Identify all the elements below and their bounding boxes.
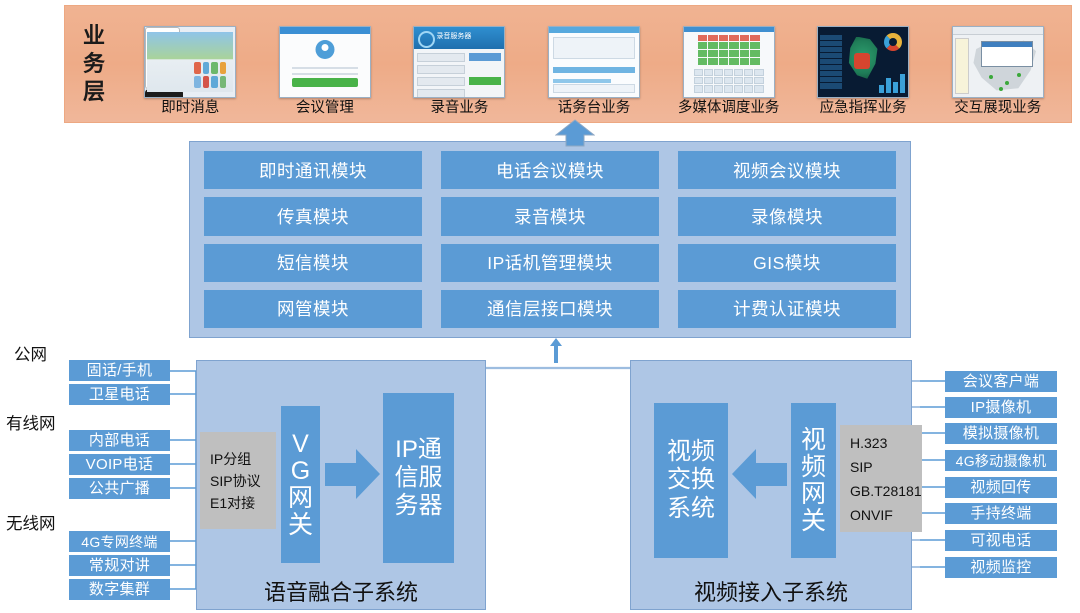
business-item-label: 会议管理 [296, 101, 354, 123]
right-terminal-analog-camera[interactable]: 模拟摄像机 [945, 423, 1057, 444]
video-switch-system-box[interactable]: 视频 交换 系统 [654, 403, 728, 558]
video-protocol-sip: SIP [850, 460, 922, 474]
multimedia-dispatch-thumbnail-icon [683, 26, 775, 98]
module-layer-panel: 即时通讯模块 传真模块 短信模块 网管模块 电话会议模块 录音模块 IP话机管理… [189, 141, 911, 338]
module-box-sms[interactable]: 短信模块 [204, 244, 422, 282]
module-column-3: 视频会议模块 录像模块 GIS模块 计费认证模块 [678, 151, 896, 328]
vg-gateway-char-1: V [292, 431, 309, 458]
right-terminal-video-phone[interactable]: 可视电话 [945, 530, 1057, 551]
module-box-netmgmt[interactable]: 网管模块 [204, 290, 422, 328]
video-switch-line-1: 视频 [667, 438, 715, 466]
business-item-label: 应急指挥业务 [820, 101, 907, 123]
video-access-subsystem-title: 视频接入子系统 [631, 575, 911, 607]
vg-gateway-char-3: 网 [288, 485, 313, 512]
right-terminal-handheld[interactable]: 手持终端 [945, 503, 1057, 524]
business-layer-title: 业 务 层 [65, 6, 123, 122]
video-gateway-char-2: 频 [801, 454, 826, 481]
video-gateway-char-4: 关 [801, 508, 826, 535]
business-layer: 业 务 层 即时消息 会议管理 [64, 5, 1072, 123]
right-terminal-video-surveillance[interactable]: 视频监控 [945, 557, 1057, 578]
ip-server-line-1: IP通 [395, 436, 442, 464]
video-protocol-gbt: GB.T28181 [850, 484, 922, 498]
module-box-recording[interactable]: 录音模块 [441, 197, 659, 235]
left-terminal-digital-trunking[interactable]: 数字集群 [69, 579, 170, 600]
video-gateway-char-1: 视 [801, 427, 826, 454]
left-terminal-public-broadcast[interactable]: 公共广播 [69, 478, 170, 499]
vg-gateway-box[interactable]: V G 网 关 [281, 406, 320, 563]
network-group-label-wireless: 无线网 [6, 510, 56, 534]
left-terminal-conventional-intercom[interactable]: 常规对讲 [69, 555, 170, 576]
interactive-presentation-thumbnail-icon [952, 26, 1044, 98]
right-terminal-conference-client[interactable]: 会议客户端 [945, 371, 1057, 392]
ip-server-line-3: 务器 [395, 492, 443, 520]
business-item-label: 即时消息 [161, 101, 219, 123]
network-group-label-wired: 有线网 [6, 410, 56, 434]
operator-console-thumbnail-icon [548, 26, 640, 98]
module-box-video-conference[interactable]: 视频会议模块 [678, 151, 896, 189]
arrow-up-to-business-layer-icon [555, 119, 595, 147]
business-item-instant-message[interactable]: 即时消息 [123, 6, 258, 122]
video-protocol-h323: H.323 [850, 436, 922, 450]
arrow-up-to-module-layer-icon [549, 338, 563, 363]
business-item-operator-console[interactable]: 话务台业务 [527, 6, 662, 122]
right-terminal-video-backhaul[interactable]: 视频回传 [945, 477, 1057, 498]
business-item-multimedia-dispatch[interactable]: 多媒体调度业务 [661, 6, 796, 122]
ip-communication-server-box[interactable]: IP通 信服 务器 [383, 393, 454, 563]
business-item-label: 交互展现业务 [954, 101, 1041, 123]
module-column-1: 即时通讯模块 传真模块 短信模块 网管模块 [204, 151, 422, 328]
arrow-right-vg-to-server-icon [325, 448, 381, 501]
video-switch-line-3: 系统 [667, 495, 715, 523]
module-box-video-recording[interactable]: 录像模块 [678, 197, 896, 235]
business-layer-title-char-3: 层 [83, 78, 105, 106]
right-terminal-ip-camera[interactable]: IP摄像机 [945, 397, 1057, 418]
instant-message-thumbnail-icon [144, 26, 236, 98]
video-gateway-char-3: 网 [801, 481, 826, 508]
business-item-conference-management[interactable]: 会议管理 [258, 6, 393, 122]
voice-protocol-e1: E1对接 [210, 496, 276, 510]
video-switch-line-2: 交换 [667, 466, 715, 494]
vg-gateway-char-2: G [291, 458, 310, 485]
voice-protocol-ip: IP分组 [210, 452, 276, 466]
module-box-comm-interface[interactable]: 通信层接口模块 [441, 290, 659, 328]
vg-gateway-char-4: 关 [288, 512, 313, 539]
left-terminal-voip[interactable]: VOIP电话 [69, 454, 170, 475]
module-box-ipphone-mgmt[interactable]: IP话机管理模块 [441, 244, 659, 282]
module-box-gis[interactable]: GIS模块 [678, 244, 896, 282]
business-item-interactive-presentation[interactable]: 交互展现业务 [930, 6, 1065, 122]
business-item-emergency-command[interactable]: 应急指挥业务 [796, 6, 931, 122]
module-column-2: 电话会议模块 录音模块 IP话机管理模块 通信层接口模块 [441, 151, 659, 328]
voice-protocol-sip: SIP协议 [210, 474, 276, 488]
left-terminal-satellite[interactable]: 卫星电话 [69, 384, 170, 405]
recording-service-thumbnail-icon [413, 26, 505, 98]
arrow-left-gateway-to-switch-icon [731, 448, 787, 501]
module-box-billing-auth[interactable]: 计费认证模块 [678, 290, 896, 328]
ip-server-line-2: 信服 [395, 464, 443, 492]
voice-protocol-box: IP分组 SIP协议 E1对接 [200, 432, 276, 529]
module-box-audio-conference[interactable]: 电话会议模块 [441, 151, 659, 189]
business-layer-title-char-2: 务 [83, 50, 105, 78]
left-terminal-internal-phone[interactable]: 内部电话 [69, 430, 170, 451]
business-item-label: 多媒体调度业务 [678, 101, 780, 123]
business-layer-items: 即时消息 会议管理 [123, 6, 1071, 122]
video-protocol-onvif: ONVIF [850, 508, 922, 522]
voice-fusion-subsystem-title: 语音融合子系统 [197, 575, 485, 607]
right-terminal-4g-mobile-camera[interactable]: 4G移动摄像机 [945, 450, 1057, 471]
business-item-recording-service[interactable]: 录音业务 [392, 6, 527, 122]
module-box-im[interactable]: 即时通讯模块 [204, 151, 422, 189]
business-layer-title-char-1: 业 [83, 22, 105, 50]
module-box-fax[interactable]: 传真模块 [204, 197, 422, 235]
left-terminal-fixed-mobile[interactable]: 固话/手机 [69, 360, 170, 381]
conference-management-thumbnail-icon [279, 26, 371, 98]
network-group-label-public: 公网 [14, 341, 47, 365]
business-item-label: 录音业务 [430, 101, 488, 123]
video-protocol-box: H.323 SIP GB.T28181 ONVIF [840, 425, 922, 532]
left-terminal-4g-private[interactable]: 4G专网终端 [69, 531, 170, 552]
architecture-diagram: 业 务 层 即时消息 会议管理 [0, 0, 1080, 613]
emergency-command-thumbnail-icon [817, 26, 909, 98]
video-gateway-box[interactable]: 视 频 网 关 [791, 403, 836, 558]
